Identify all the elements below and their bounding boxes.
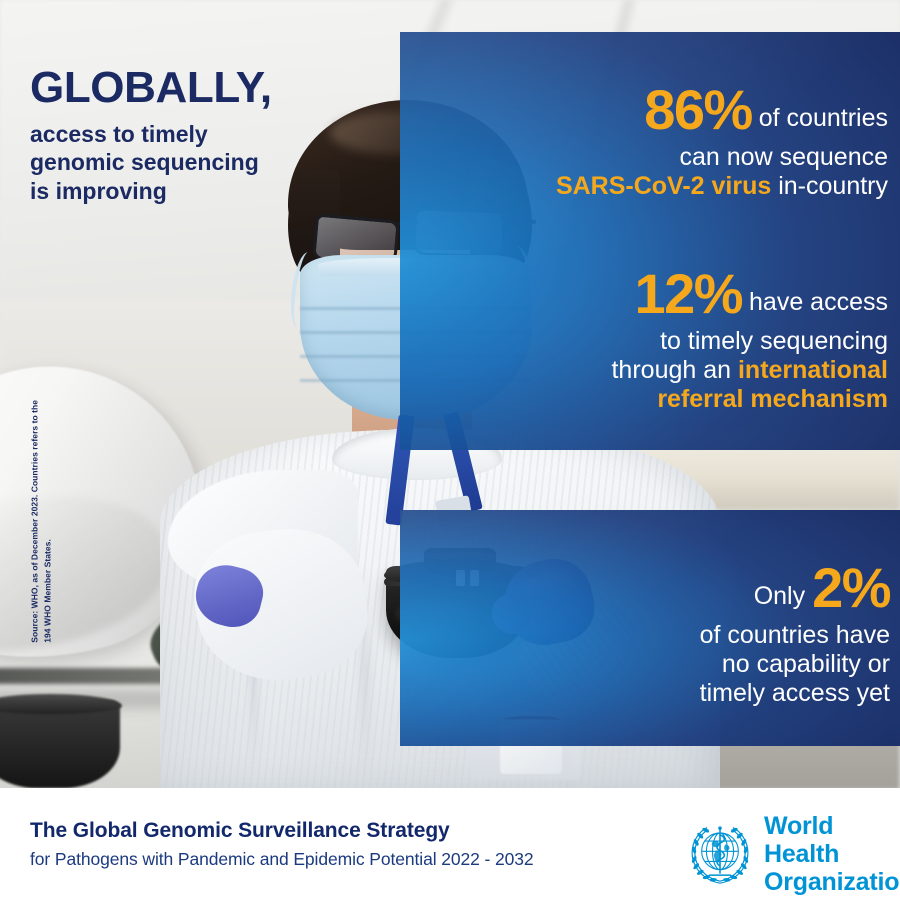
stat-86-line-1-text: of countries [752,104,888,132]
stat-12-highlight-2: referral mechanism [657,385,888,413]
stat-2-line-3: no capability or [560,650,890,679]
stat-86-highlight: SARS-CoV-2 virus [556,172,771,200]
infographic-root: GLOBALLY, access to timely genomic seque… [0,0,900,899]
headline-sub-line-1: access to timely [30,120,370,149]
stat-2-line-4: timely access yet [560,679,890,708]
stat-2-line-2: of countries have [560,621,890,650]
who-wordmark: World Health Organization [764,812,900,896]
stat-12-line-1-text: have access [742,288,888,316]
who-logo: World Health Organization [686,812,900,896]
stat-12-highlight-1: international [738,356,888,384]
stat-86-line-3: SARS-CoV-2 virus in-country [418,172,888,201]
stat-12-line-4: referral mechanism [418,385,888,414]
stat-12-percent: 12% [634,262,742,325]
stat-86-percent: 86% [644,78,752,141]
headline-sub-line-2: genomic sequencing [30,148,370,177]
stat-2-percent: 2% [812,556,890,619]
laboratory-technician-photo: GLOBALLY, access to timely genomic seque… [0,0,900,788]
stat-86-line-1: 86% of countries [418,78,888,143]
stat-86-line-2: can now sequence [418,143,888,172]
headline-sub-line-3: is improving [30,177,370,206]
who-wordmark-line-1: World Health [764,812,900,868]
stat-12-line-2: to timely sequencing [418,327,888,356]
stat-block-12: 12% have access to timely sequencing thr… [418,262,888,414]
footer-title: The Global Genomic Surveillance Strategy [30,819,450,843]
stat-2-line-1: Only 2% [560,556,890,621]
footer-subtitle: for Pathogens with Pandemic and Epidemic… [30,849,534,870]
stat-12-line-1: 12% have access [418,262,888,327]
who-wordmark-line-2: Organization [764,868,900,896]
stat-12-line-3-text: through an [611,356,738,384]
headline-subtitle: access to timely genomic sequencing is i… [30,120,370,206]
headline-main: GLOBALLY, [30,66,370,111]
source-note: Source: WHO, as of December 2023. Countr… [28,393,54,643]
who-emblem-icon [686,820,754,888]
stat-block-2: Only 2% of countries have no capability … [560,556,890,708]
stat-2-line-1-text: Only [754,582,812,610]
stat-12-line-3: through an international [418,356,888,385]
headline-block: GLOBALLY, access to timely genomic seque… [30,66,370,205]
stat-block-86: 86% of countries can now sequence SARS-C… [418,78,888,201]
stat-86-line-3-text: in-country [771,172,888,200]
